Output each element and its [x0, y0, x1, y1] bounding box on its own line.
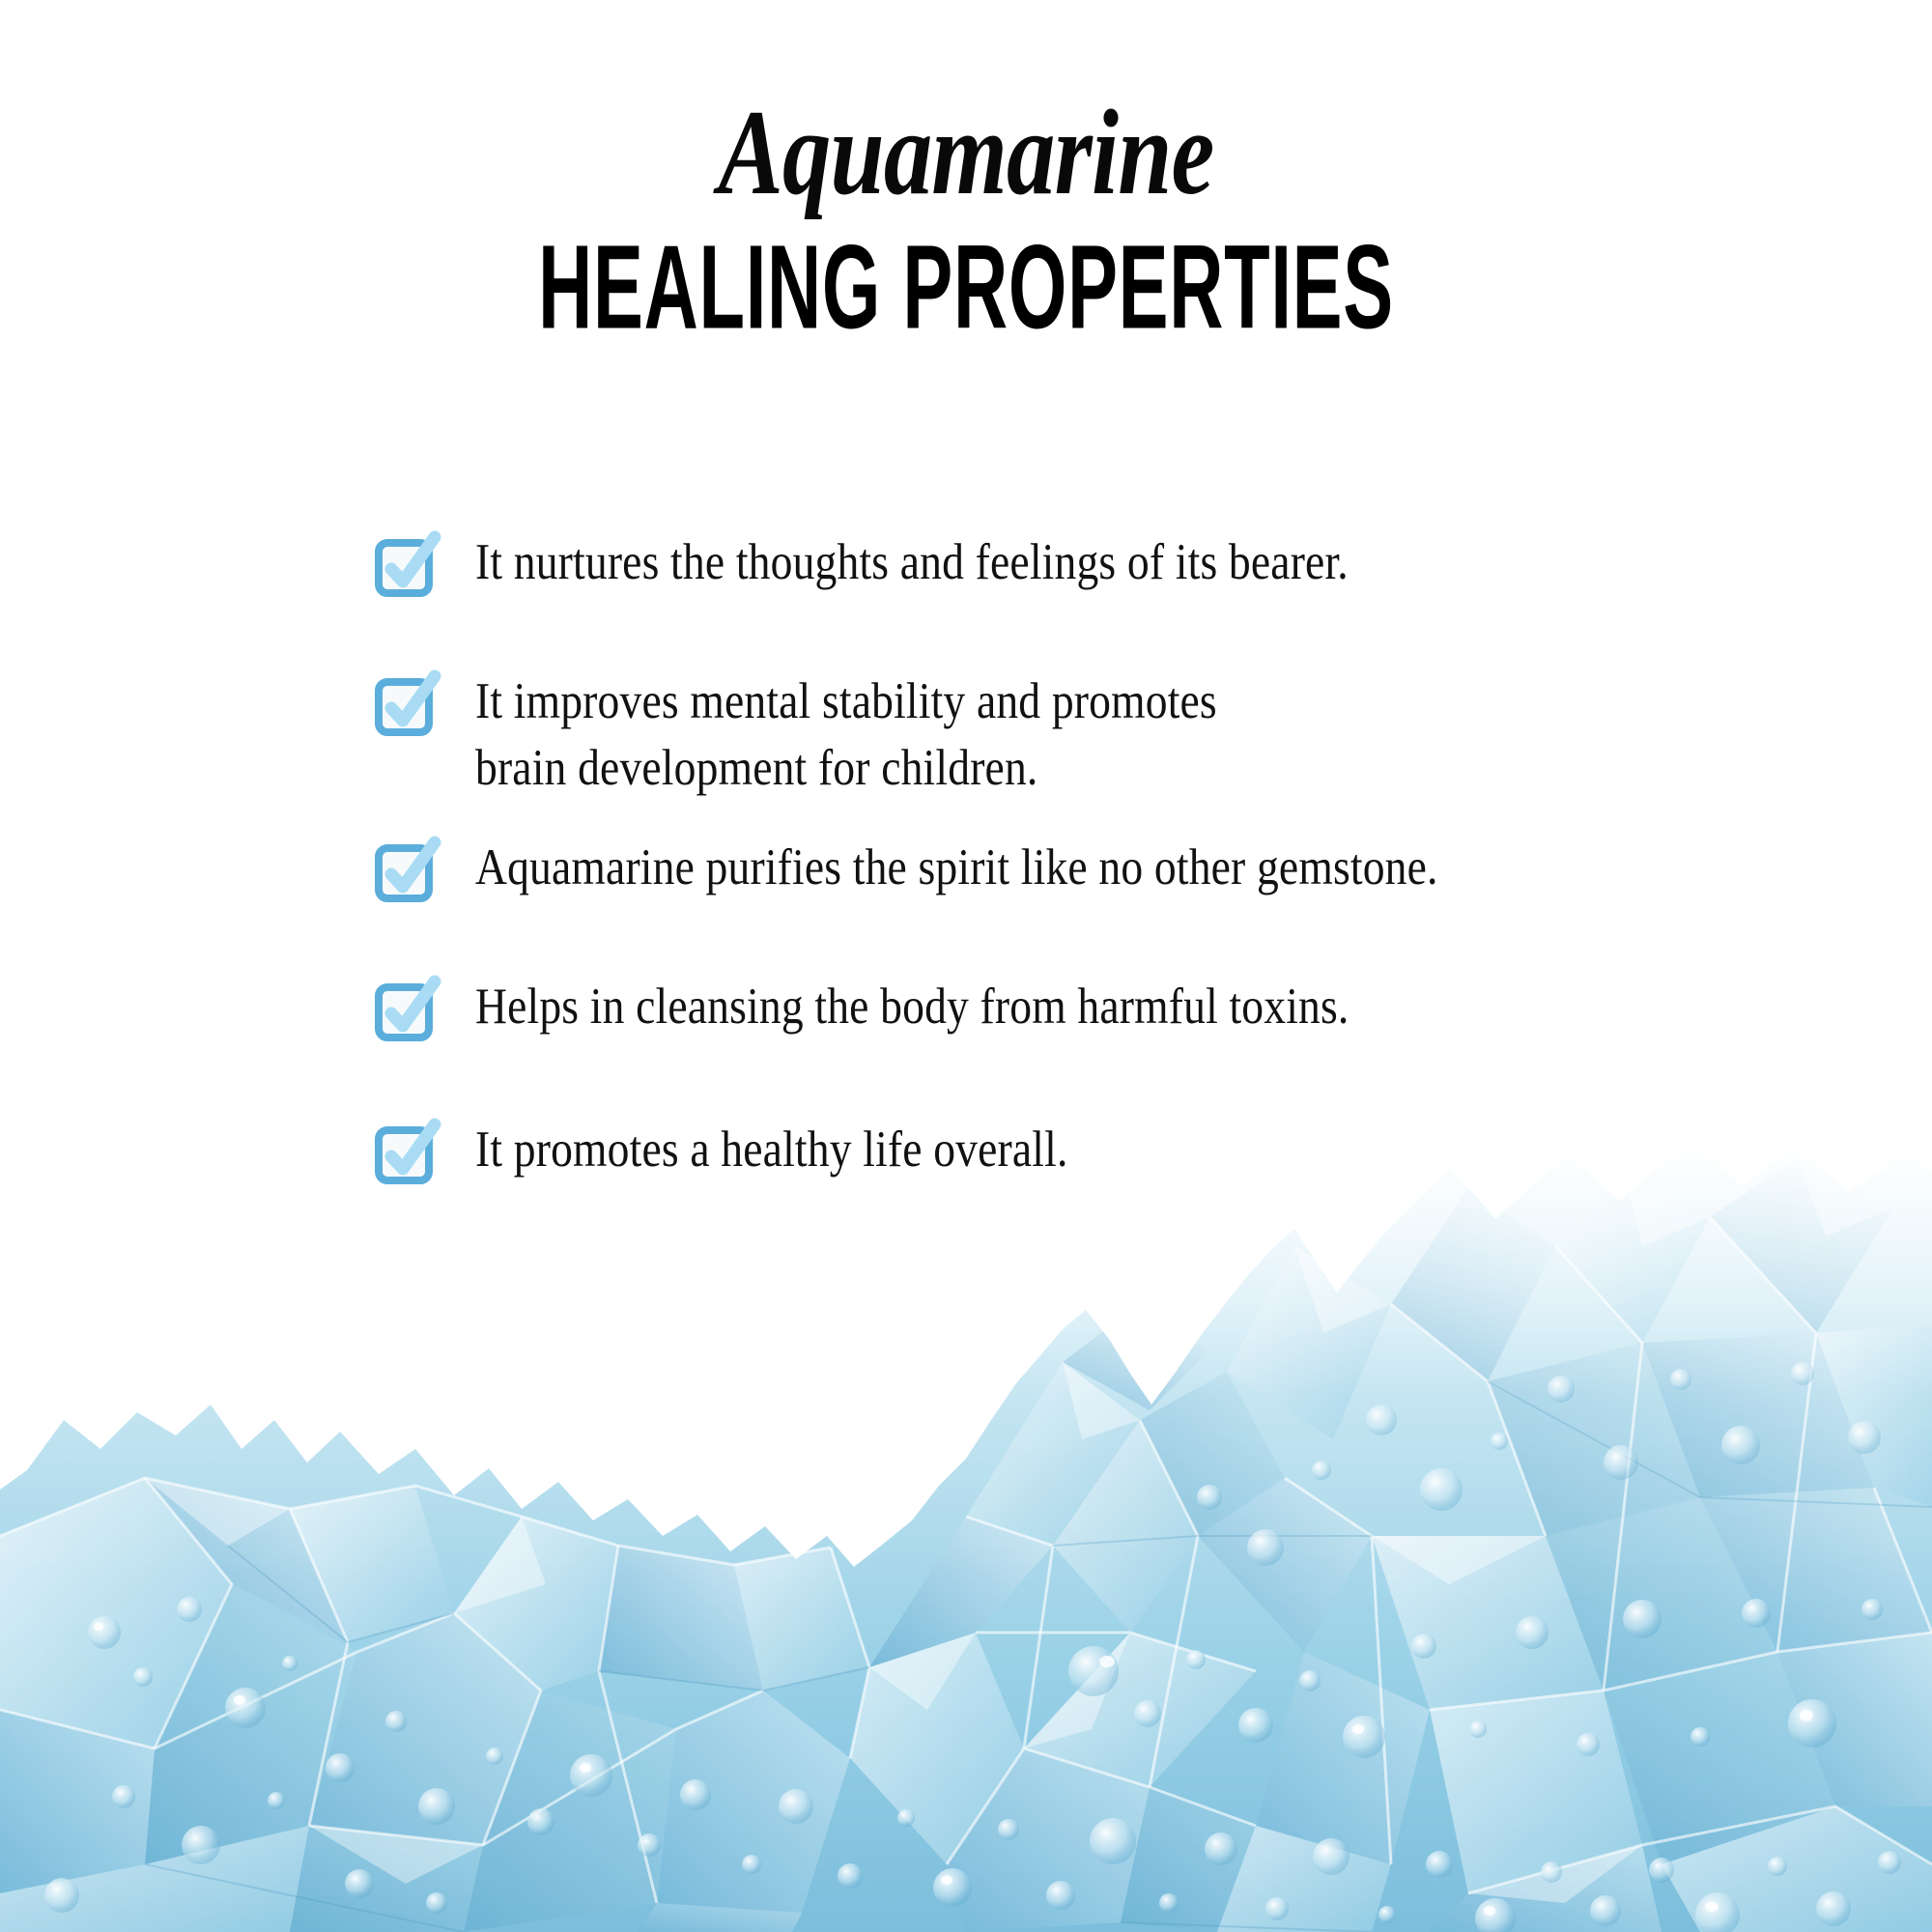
checkbox-checked-icon [375, 1121, 439, 1184]
page-subtitle: HEALING PROPERTIES [270, 228, 1662, 347]
list-item: It promotes a healthy life overall. [375, 1117, 1660, 1184]
healing-properties-list: It nurtures the thoughts and feelings of… [375, 529, 1660, 1184]
list-item-label: It nurtures the thoughts and feelings of… [475, 529, 1349, 596]
list-item-label: It promotes a healthy life overall. [475, 1117, 1068, 1183]
list-item-label: Helps in cleansing the body from harmful… [475, 974, 1350, 1040]
list-item-label: Aquamarine purifies the spirit like no o… [475, 835, 1438, 901]
checkbox-checked-icon [375, 533, 439, 597]
checkbox-checked-icon [375, 838, 439, 902]
list-item: It nurtures the thoughts and feelings of… [375, 529, 1660, 597]
page-title: Aquamarine [193, 93, 1739, 214]
list-item: It improves mental stability and promote… [375, 668, 1660, 802]
checkbox-checked-icon [375, 672, 439, 736]
poster-header: Aquamarine HEALING PROPERTIES [0, 0, 1932, 332]
list-item: Helps in cleansing the body from harmful… [375, 974, 1660, 1041]
checkbox-checked-icon [375, 978, 439, 1041]
crushed-ice-photo [0, 1130, 1932, 1932]
list-item: Aquamarine purifies the spirit like no o… [375, 835, 1660, 902]
poster-canvas: Aquamarine HEALING PROPERTIES It nurture… [0, 0, 1932, 1932]
list-item-label: It improves mental stability and promote… [475, 668, 1217, 802]
